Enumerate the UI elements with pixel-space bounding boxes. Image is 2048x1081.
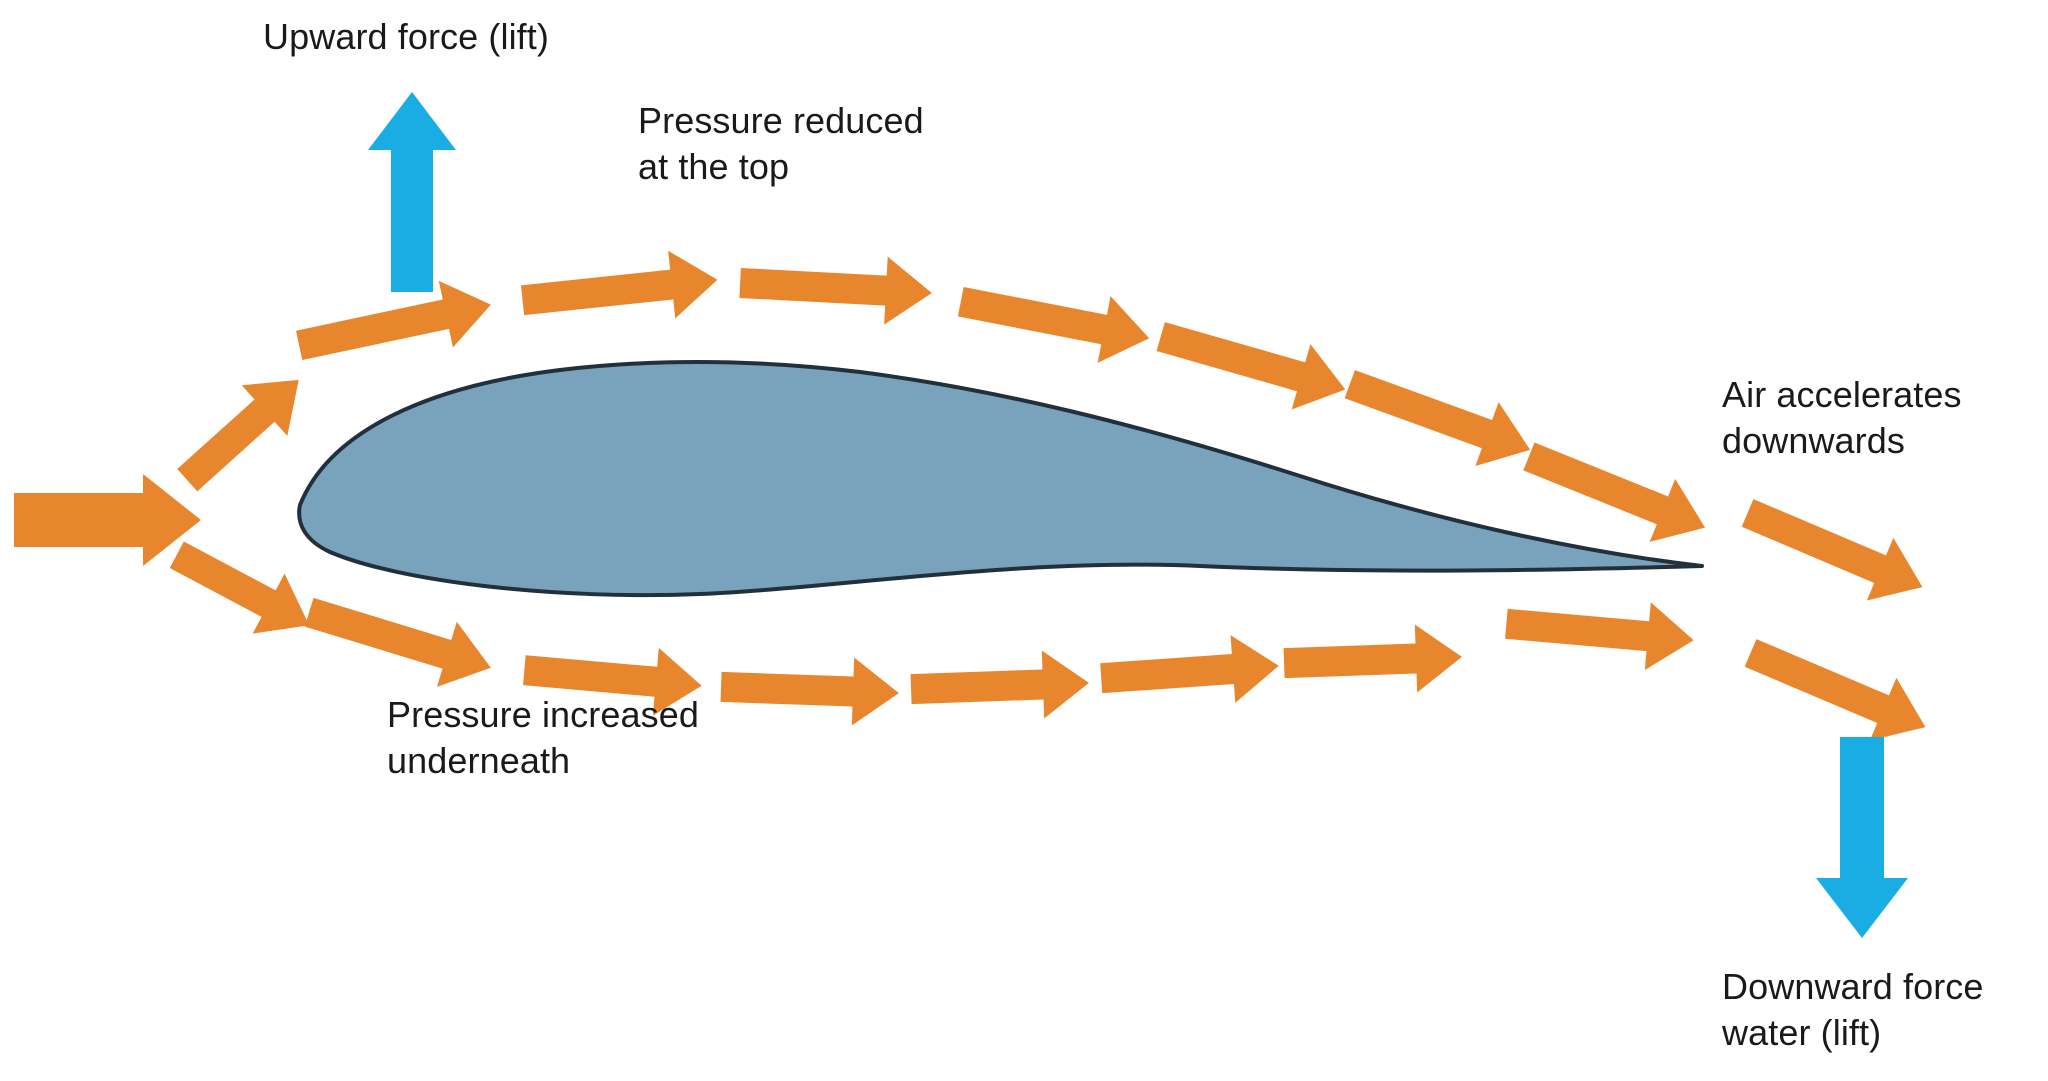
flow-arrow-lower-surface-1	[161, 525, 325, 655]
airfoil-group	[299, 362, 1702, 595]
downwash-stream-group	[1503, 425, 1938, 759]
label-pressure-increased-underneath: Pressure increased underneath	[387, 692, 699, 784]
flow-arrow-downwash-4	[1737, 622, 1938, 759]
label-upward-force: Upward force (lift)	[263, 14, 549, 60]
label-air-accelerates-downwards: Air accelerates downwards	[1722, 372, 1962, 464]
flow-arrow-upper-surface-7	[1338, 352, 1542, 482]
flow-arrow-upper-surface-1	[165, 355, 322, 506]
downward-lift-arrow	[1816, 737, 1908, 938]
label-pressure-reduced-at-top: Pressure reduced at the top	[638, 98, 924, 190]
flow-arrow-lower-surface-5	[910, 649, 1090, 723]
flow-arrow-lower-surface-6	[1099, 632, 1281, 712]
flow-arrow-upper-surface-6	[1151, 304, 1354, 422]
upward-lift-arrow	[368, 92, 456, 292]
flow-arrow-upper-surface-5	[954, 268, 1155, 371]
label-downward-force-water: Downward force water (lift)	[1722, 964, 1984, 1056]
flow-arrow-lower-surface-2	[299, 580, 501, 701]
flow-arrow-upper-surface-3	[519, 246, 721, 334]
incoming-flow-arrow	[14, 474, 201, 566]
airfoil-lift-svg	[0, 0, 2048, 1081]
flow-arrow-downwash-1	[1516, 425, 1718, 559]
airfoil-cross-section	[299, 362, 1702, 595]
diagram-canvas: Upward force (lift) Pressure reduced at …	[0, 0, 2048, 1081]
flow-arrow-downwash-3	[1734, 482, 1935, 619]
flow-arrow-upper-surface-4	[738, 249, 933, 327]
flow-arrow-downwash-2	[1503, 590, 1696, 674]
flow-arrow-lower-surface-7	[1283, 623, 1463, 697]
incoming-flow-arrow-group	[14, 474, 201, 566]
flow-arrow-lower-surface-4	[720, 653, 900, 727]
